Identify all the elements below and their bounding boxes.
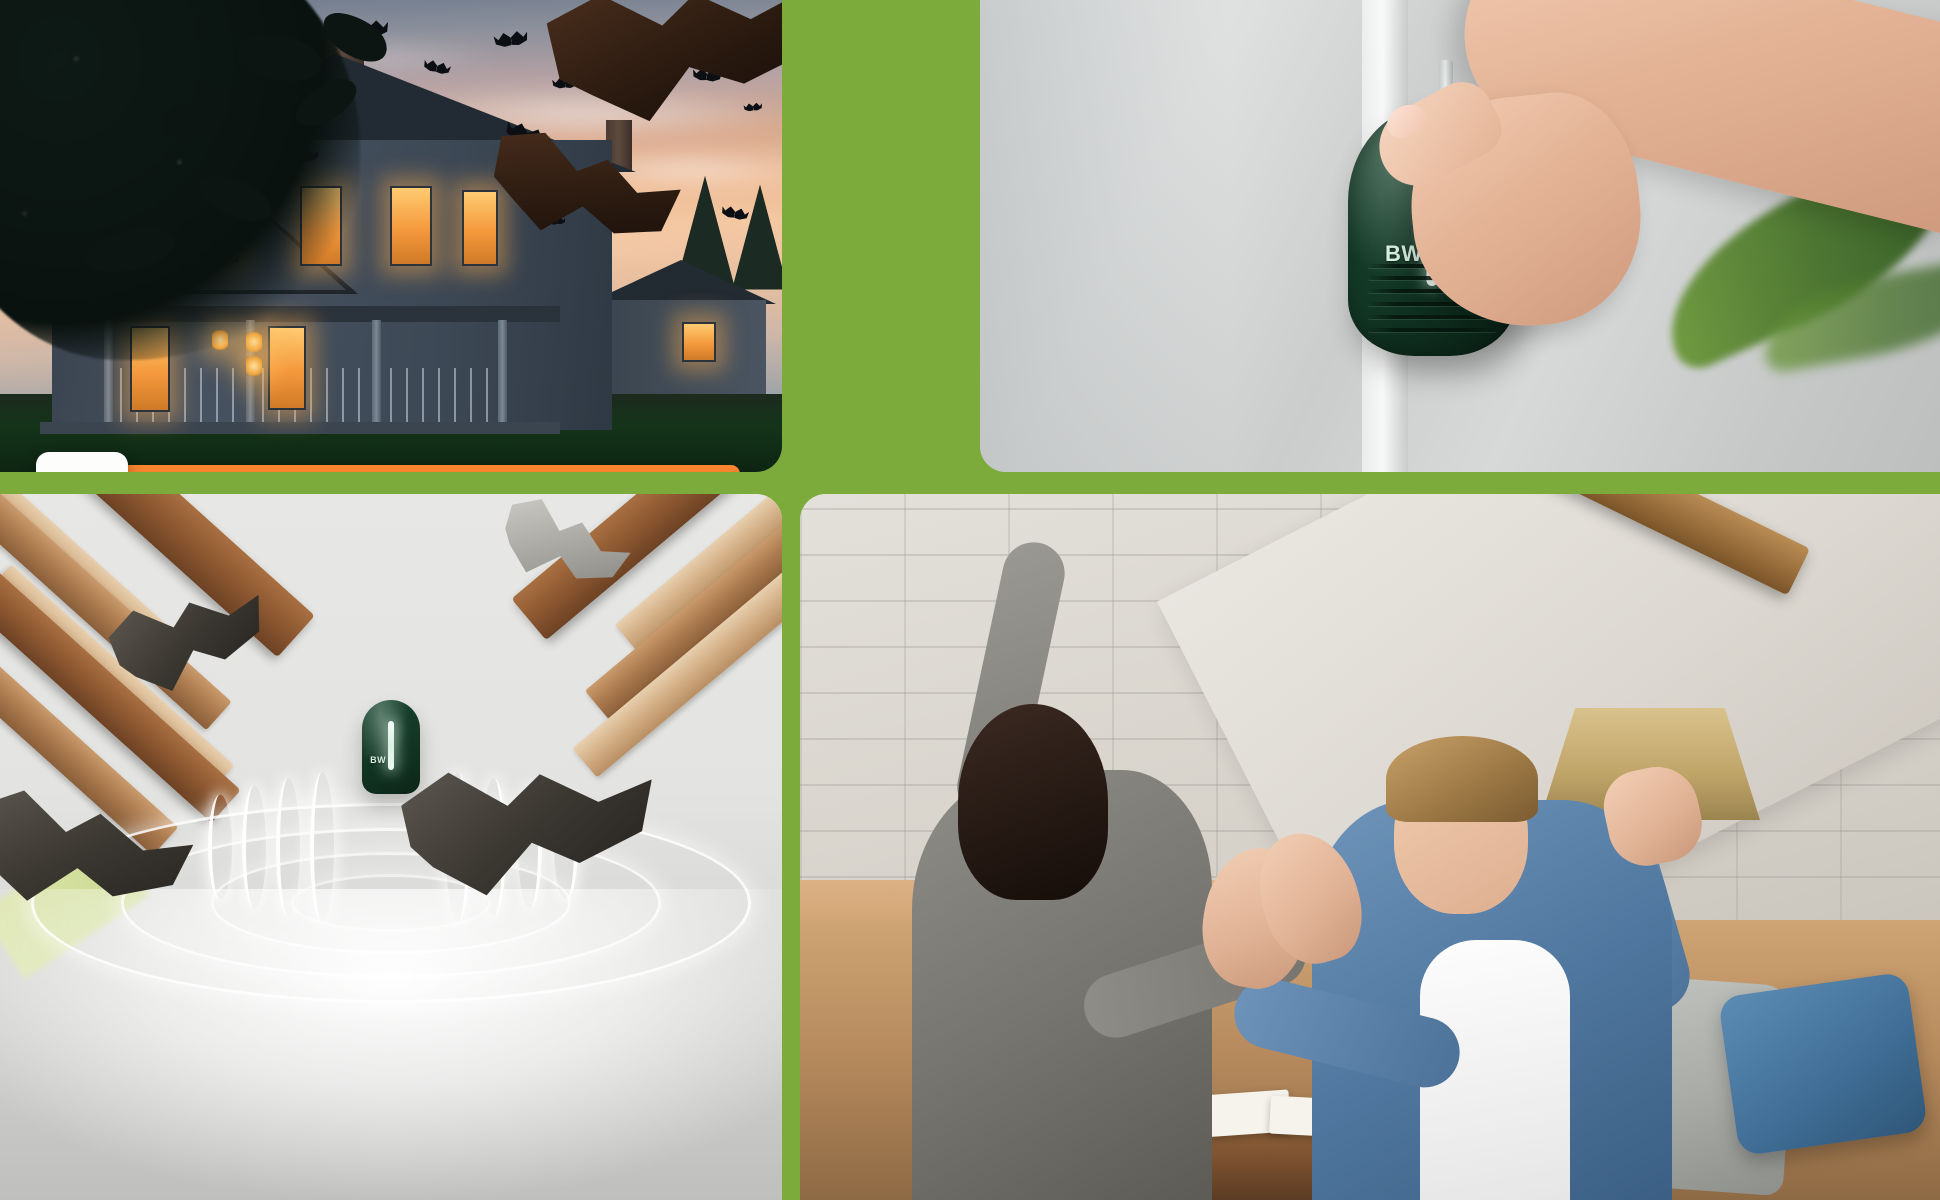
panel-plug-in-device: BW 2. Plug in to activate ultrasonic bat… [980, 0, 1940, 472]
porch-lamp [246, 356, 262, 376]
panel-happy-couple: 4. Most bats leave within 1-14 days. [800, 494, 1940, 1200]
man-hair [1386, 736, 1538, 822]
ultrasonic-arc [242, 786, 266, 909]
porch-post [372, 320, 381, 422]
ultrasonic-arc [276, 778, 300, 916]
window-lit [390, 186, 432, 266]
blue-cushion [1718, 972, 1928, 1157]
ultrasonic-arc [310, 772, 334, 922]
panel-house-at-dusk: 1. Stop bats before they settle in your … [0, 0, 782, 472]
infographic-board: 1. Stop bats before they settle in your … [0, 0, 1940, 1200]
panel-ultrasonic-waves: BW 3. Dynamic frequencies disrupt and re… [0, 494, 782, 1200]
window-lit [268, 326, 306, 410]
ultrasonic-arc [208, 795, 232, 900]
ultrasonic-repeller-device[interactable]: BW [362, 700, 420, 794]
device-brand-logo: BW [370, 755, 386, 765]
step-badge-1: 1. [36, 452, 128, 472]
device-led-indicator [388, 721, 394, 770]
window-lit [682, 322, 716, 362]
rafters-right [452, 494, 782, 794]
window-lit [462, 190, 498, 266]
porch-post [498, 320, 507, 422]
woman-hair [958, 704, 1108, 900]
neighbor-house-roof [586, 260, 776, 304]
wall-shadow [980, 0, 1230, 472]
porch-deck [40, 422, 560, 434]
step-caption-bar-1: Stop bats before they settle in your hom… [120, 465, 740, 472]
porch-lamp [246, 332, 262, 352]
